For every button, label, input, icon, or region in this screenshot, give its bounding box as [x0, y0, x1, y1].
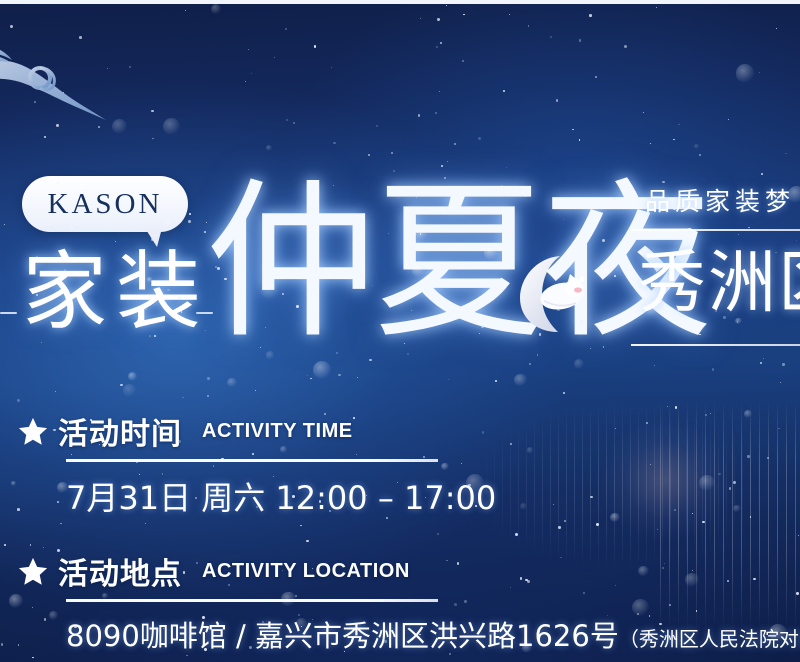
- activity-time-label-cn: 活动时间: [58, 409, 182, 453]
- activity-location-address: 8090咖啡馆 / 嘉兴市秀洲区洪兴路1626号: [66, 619, 619, 653]
- activity-location-label-cn: 活动地点: [58, 549, 182, 593]
- tagline: 品质家装梦: [645, 182, 795, 218]
- dash-left-icon: [0, 312, 17, 314]
- activity-location-label-en: ACTIVITY LOCATION: [202, 560, 410, 583]
- main-title: 仲夏夜: [206, 178, 710, 348]
- activity-location-divider: [66, 599, 438, 602]
- brand-cn-label: 家装: [22, 250, 210, 335]
- star-icon: [18, 556, 48, 586]
- activity-time-divider: [66, 459, 438, 462]
- crescent-moon-with-sleeping-cat-icon: [516, 252, 590, 336]
- district-rule-top: [631, 229, 800, 231]
- activity-location-value: 8090咖啡馆 / 嘉兴市秀洲区洪兴路1626号（秀洲区人民法院对面）: [66, 613, 448, 655]
- poster-canvas: KASON 家装 仲夏夜 品质家装梦 秀洲区 活动: [0, 0, 800, 662]
- activity-location-note: （秀洲区人民法院对面）: [619, 627, 800, 651]
- vertical-stripe-texture-right: [660, 400, 800, 630]
- activity-time-label-en: ACTIVITY TIME: [202, 420, 353, 443]
- district-label: 秀洲区: [638, 250, 800, 318]
- tribal-flourish-icon: [0, 28, 134, 148]
- district-rule-bottom: [631, 344, 800, 346]
- activity-location-header: 活动地点 ACTIVITY LOCATION: [18, 552, 448, 590]
- star-icon: [18, 416, 48, 446]
- top-white-strip: [0, 0, 800, 4]
- activity-time-value: 7月31日 周六 12:00 – 17:00: [66, 473, 448, 519]
- warm-glow-spot: [600, 420, 730, 540]
- activity-time-block: 活动时间 ACTIVITY TIME 7月31日 周六 12:00 – 17:0…: [18, 412, 448, 519]
- activity-time-header: 活动时间 ACTIVITY TIME: [18, 412, 448, 450]
- activity-location-block: 活动地点 ACTIVITY LOCATION 8090咖啡馆 / 嘉兴市秀洲区洪…: [18, 552, 448, 655]
